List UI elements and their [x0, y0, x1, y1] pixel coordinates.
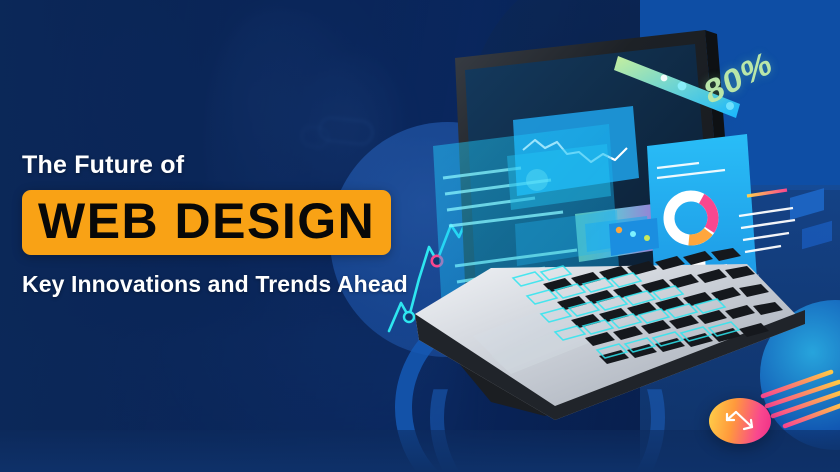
progress-glow-1 — [661, 75, 668, 82]
overlay-glow-dot — [526, 169, 548, 191]
headline-kicker: The Future of — [22, 152, 422, 180]
resize-badge[interactable] — [709, 398, 771, 444]
title-highlight-bar: WEB DESIGN — [22, 190, 391, 255]
headline-block: The Future of WEB DESIGN Key Innovations… — [22, 152, 422, 298]
resize-arrows-icon — [722, 407, 758, 435]
gradient-bar-r3 — [773, 392, 840, 416]
promo-banner: 80% The Future of WEB DESIGN — [0, 0, 840, 472]
page-title: WEB DESIGN — [38, 196, 375, 246]
gradient-bar-r1 — [763, 372, 831, 396]
gradient-bar-r2 — [767, 382, 839, 406]
progress-glow-2 — [678, 82, 687, 91]
headline-subtitle: Key Innovations and Trends Ahead — [22, 271, 422, 298]
